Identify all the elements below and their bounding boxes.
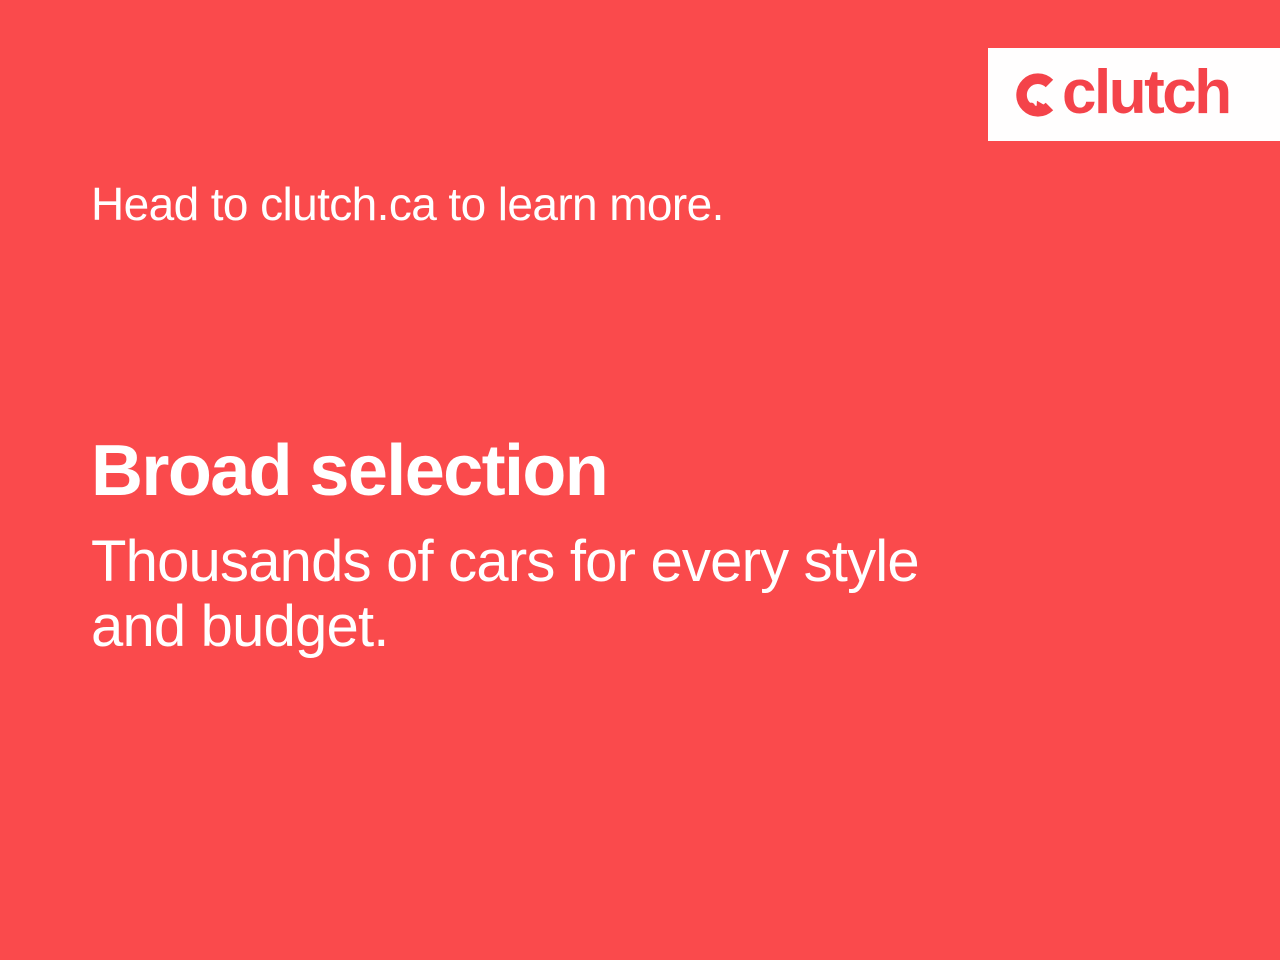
logo-badge: clutch	[988, 48, 1280, 141]
clutch-logo-lockup[interactable]: clutch	[1012, 64, 1230, 126]
headline-block: Broad selection Thousands of cars for ev…	[91, 435, 1091, 659]
subhead-text: Thousands of cars for every style and bu…	[91, 507, 1021, 659]
clutch-c-mark-icon	[1012, 71, 1060, 119]
headline-text: Broad selection	[91, 435, 1091, 507]
clutch-wordmark: clutch	[1062, 62, 1230, 124]
tagline-text: Head to clutch.ca to learn more.	[91, 178, 724, 231]
promo-slide: clutch Head to clutch.ca to learn more. …	[0, 0, 1280, 960]
